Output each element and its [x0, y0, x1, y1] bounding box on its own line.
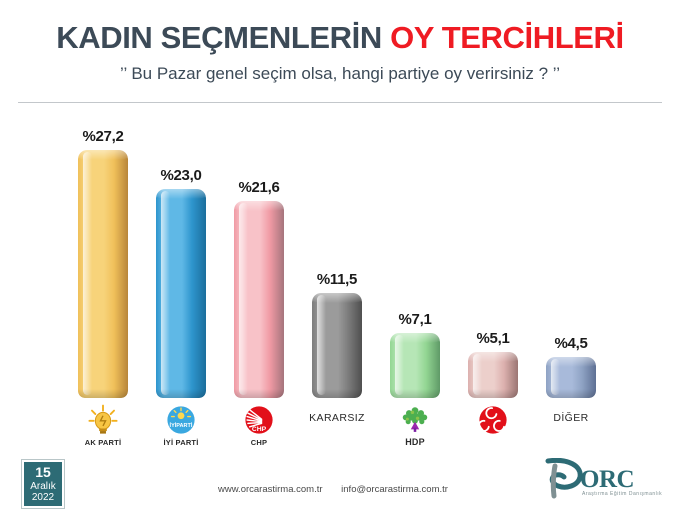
orc-logo: ORC Araştırma Eğitim Danışmanlık	[542, 456, 664, 502]
six-arrows-icon: CHP	[242, 403, 276, 437]
date-badge: 15 Aralık 2022	[22, 460, 64, 508]
category-label-di̇ğer: DİĞER	[532, 400, 610, 450]
bar-bottom-shadow	[468, 389, 518, 398]
bar-group: %23,0 İYİPARTİİYİ PARTİ	[142, 104, 220, 450]
party-logo	[86, 403, 120, 437]
bar-top-cap	[78, 150, 128, 160]
bar-group: %4,5DİĞER	[532, 104, 610, 450]
bar-group: %5,1	[454, 104, 532, 450]
page-title: KADIN SEÇMENLERİN OY TERCİHLERİ	[0, 22, 680, 55]
poll-chart-infographic: KADIN SEÇMENLERİN OY TERCİHLERİ ’’ Bu Pa…	[0, 0, 680, 510]
category-label-hdp: HDP	[376, 400, 454, 450]
bar-highlight	[395, 335, 404, 395]
bar-chart: %27,2 AK PARTİ%23,0 İYİPARTİİYİ PAR	[0, 104, 680, 450]
bar-mhp[interactable]	[468, 352, 518, 398]
svg-text:CHP: CHP	[252, 426, 267, 433]
category-name: DİĞER	[553, 412, 588, 424]
orc-tagline: Araştırma Eğitim Danışmanlık	[582, 491, 662, 497]
bar-ak-parti̇[interactable]	[78, 150, 128, 398]
category-label-i̇yi̇-parti̇: İYİPARTİİYİ PARTİ	[142, 400, 220, 450]
lightbulb-icon	[86, 403, 120, 437]
bar-bottom-shadow	[78, 389, 128, 398]
category-name: AK PARTİ	[85, 438, 121, 447]
bar-column[interactable]: %23,0	[142, 167, 220, 398]
svg-text:İYİPARTİ: İYİPARTİ	[170, 422, 193, 429]
bar-bottom-shadow	[234, 389, 284, 398]
bar-top-cap	[468, 352, 518, 362]
bar-highlight	[161, 191, 170, 395]
bar-kararsiz[interactable]	[312, 293, 362, 398]
bar-value-label: %11,5	[317, 271, 357, 288]
bar-top-cap	[546, 357, 596, 367]
bar-group: %27,2 AK PARTİ	[64, 104, 142, 450]
header-divider	[18, 102, 662, 103]
header: KADIN SEÇMENLERİN OY TERCİHLERİ ’’ Bu Pa…	[0, 0, 680, 104]
bar-top-cap	[312, 293, 362, 303]
bar-top-cap	[234, 201, 284, 211]
bar-column[interactable]: %5,1	[454, 330, 532, 398]
orc-wordmark: ORC	[580, 466, 634, 494]
party-logo: CHP	[242, 403, 276, 437]
bar-value-label: %21,6	[238, 179, 279, 196]
bar-top-cap	[156, 189, 206, 199]
bar-highlight	[239, 203, 248, 395]
bar-value-label: %4,5	[555, 335, 588, 352]
date-year: 2022	[24, 492, 62, 503]
category-name: KARARSIZ	[309, 412, 365, 424]
bar-hdp[interactable]	[390, 333, 440, 398]
bar-highlight	[83, 152, 92, 395]
bar-group: %7,1 HDP	[376, 104, 454, 450]
footer: 15 Aralık 2022 www.orcarastirma.com.tr i…	[0, 450, 680, 510]
bar-top-cap	[390, 333, 440, 343]
title-highlight: OY TERCİHLERİ	[390, 20, 624, 55]
bar-bottom-shadow	[546, 389, 596, 398]
bar-column[interactable]: %27,2	[64, 128, 142, 398]
bar-column[interactable]: %21,6	[220, 179, 298, 398]
category-name: HDP	[405, 437, 425, 447]
bar-group: %21,6 CHPCHP	[220, 104, 298, 450]
category-label-kararsiz: KARARSIZ	[298, 400, 376, 450]
party-logo	[398, 403, 432, 437]
bar-group: %11,5KARARSIZ	[298, 104, 376, 450]
bar-chp[interactable]	[234, 201, 284, 398]
bar-i̇yi̇-parti̇[interactable]	[156, 189, 206, 398]
category-label-mhp	[454, 400, 532, 450]
party-logo	[476, 403, 510, 437]
bar-bottom-shadow	[390, 389, 440, 398]
category-label-chp: CHPCHP	[220, 400, 298, 450]
bar-value-label: %23,0	[160, 167, 201, 184]
bar-value-label: %27,2	[82, 128, 123, 145]
contact-info: www.orcarastirma.com.tr info@orcarastirm…	[218, 484, 464, 495]
bar-highlight	[317, 295, 326, 395]
sun-circle-icon: İYİPARTİ	[164, 403, 198, 437]
crescent-moons-icon	[476, 403, 510, 437]
category-name: İYİ PARTİ	[164, 438, 199, 447]
party-logo: İYİPARTİ	[164, 403, 198, 437]
website-link[interactable]: www.orcarastirma.com.tr	[218, 484, 323, 495]
date-month: Aralık	[24, 481, 62, 492]
bar-bottom-shadow	[312, 389, 362, 398]
bar-value-label: %5,1	[477, 330, 510, 347]
tree-icon	[398, 403, 432, 437]
category-label-ak-parti̇: AK PARTİ	[64, 400, 142, 450]
bar-column[interactable]: %7,1	[376, 311, 454, 398]
bar-column[interactable]: %11,5	[298, 271, 376, 398]
title-primary: KADIN SEÇMENLERİN	[56, 20, 382, 55]
category-name: CHP	[251, 438, 267, 447]
bar-value-label: %7,1	[399, 311, 432, 328]
subtitle-question: ’’ Bu Pazar genel seçim olsa, hangi part…	[0, 64, 680, 84]
date-day: 15	[24, 465, 62, 481]
bar-column[interactable]: %4,5	[532, 335, 610, 398]
bar-bottom-shadow	[156, 389, 206, 398]
bar-di̇ğer[interactable]	[546, 357, 596, 398]
email-link[interactable]: info@orcarastirma.com.tr	[341, 484, 448, 495]
